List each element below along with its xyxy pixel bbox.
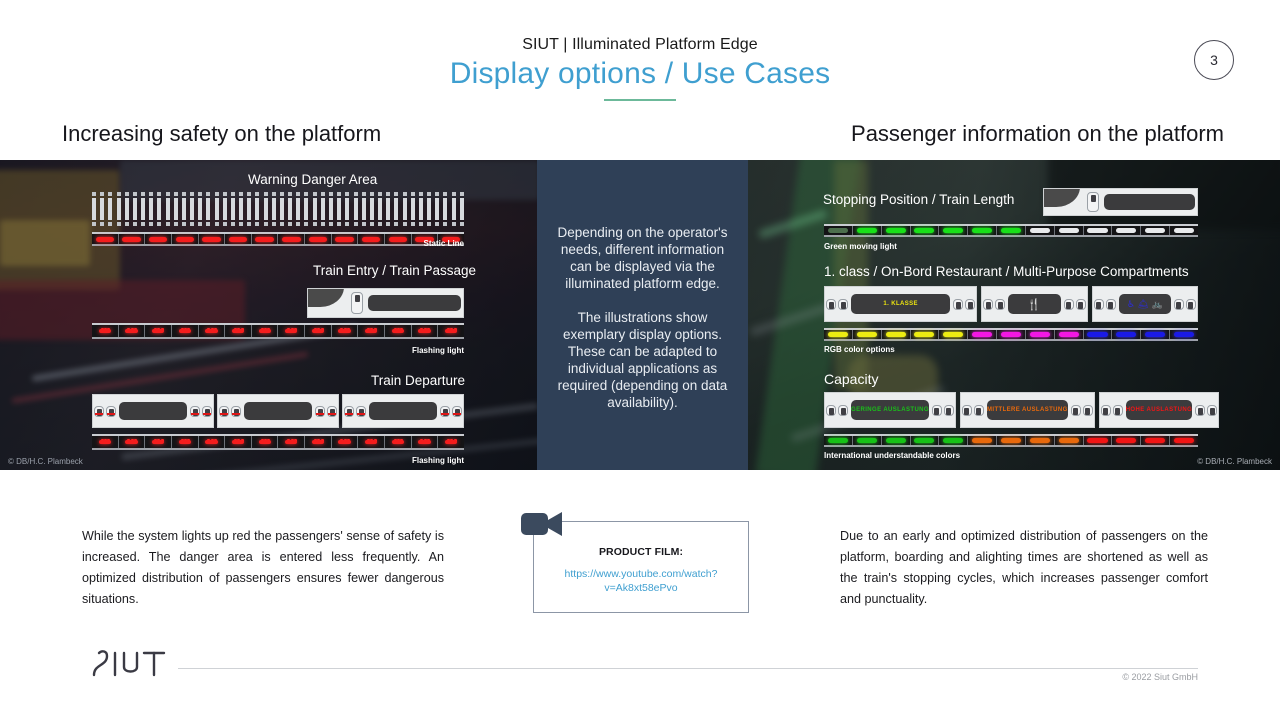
- right-block-title-stopping: Stopping Position / Train Length: [823, 192, 1014, 207]
- hatch-tick: [345, 192, 349, 196]
- light-cell: [824, 330, 853, 339]
- hatch-tick: [247, 222, 251, 226]
- illustration-band: Warning Danger Area Static Line Train En…: [0, 160, 1280, 470]
- light-cell: [438, 325, 464, 337]
- product-film-label: PRODUCT FILM:: [534, 546, 748, 558]
- hatch-tick: [296, 192, 300, 196]
- train-door: [202, 406, 212, 417]
- hatch-tick: [460, 222, 464, 226]
- hatch-tick: [362, 222, 366, 226]
- hatch-tick: [296, 222, 300, 226]
- train-graphic-departure: [92, 394, 464, 428]
- hatch-tick: [370, 222, 374, 226]
- hatch-tick: [313, 192, 317, 196]
- light-cell: [853, 226, 882, 235]
- light-cell: [968, 226, 997, 235]
- hatch-tick: [125, 198, 129, 220]
- light-cell: [305, 436, 332, 448]
- train-door-pair: [952, 299, 976, 310]
- train-graphic-entry: [307, 288, 464, 318]
- hatch-tick: [321, 198, 325, 220]
- train-window: GERINGE AUSLASTUNG: [851, 400, 929, 420]
- train-door-pair: [931, 405, 955, 416]
- hatch-tick: [231, 222, 235, 226]
- light-cell: [1084, 330, 1113, 339]
- hatch-tick: [394, 222, 398, 226]
- middle-panel-copy: Depending on the operator's needs, diffe…: [549, 224, 736, 411]
- middle-paragraph-2: The illustrations show exemplary display…: [549, 309, 736, 411]
- light-cell: [1170, 330, 1198, 339]
- hatch-tick: [427, 222, 431, 226]
- left-column-heading: Increasing safety on the platform: [62, 121, 381, 147]
- hatch-tick: [239, 192, 243, 196]
- hatch-tick: [321, 192, 325, 196]
- train-door: [838, 405, 848, 416]
- train-door-pair: [982, 299, 1006, 310]
- train-door-pair: [825, 299, 849, 310]
- light-cell: [225, 325, 252, 337]
- train-door: [1076, 299, 1086, 310]
- hatch-tick: [386, 192, 390, 196]
- hatch-tick: [264, 222, 268, 226]
- hatch-tick: [272, 198, 276, 220]
- hatch-tick: [247, 192, 251, 196]
- hatch-tick: [206, 192, 210, 196]
- hatch-tick: [182, 198, 186, 220]
- hatch-tick: [411, 198, 415, 220]
- hatch-tick: [435, 192, 439, 196]
- light-cell: [332, 436, 359, 448]
- train-door: [190, 406, 200, 417]
- light-cell: [1112, 226, 1141, 235]
- hatch-tick: [329, 198, 333, 220]
- light-cell: [882, 330, 911, 339]
- train-nose-car: [1043, 188, 1198, 216]
- train-door-pair: [1100, 405, 1124, 416]
- hatch-tick: [313, 222, 317, 226]
- train-door: [351, 292, 363, 314]
- light-cell: [145, 436, 172, 448]
- light-cell: [199, 325, 226, 337]
- hatch-tick: [157, 222, 161, 226]
- light-cell: [438, 436, 464, 448]
- train-door-pair: [1173, 299, 1197, 310]
- hatch-tick: [370, 192, 374, 196]
- left-block-caption-entry: Flashing light: [264, 346, 464, 355]
- hatch-tick: [386, 198, 390, 220]
- hatch-tick: [460, 198, 464, 220]
- light-cell: [412, 436, 439, 448]
- light-cell: [119, 234, 146, 244]
- light-cell: [119, 436, 146, 448]
- hatch-tick: [288, 192, 292, 196]
- hatch-tick: [362, 198, 366, 220]
- hatch-tick: [403, 192, 407, 196]
- hatch-tick: [443, 222, 447, 226]
- train-door-pair: [314, 406, 338, 417]
- right-body-text: Due to an early and optimized distributi…: [840, 526, 1208, 610]
- light-cell: [358, 436, 385, 448]
- hatch-tick: [280, 192, 284, 196]
- light-cell: [92, 234, 119, 244]
- hatch-tick: [174, 198, 178, 220]
- train-door-pair: [961, 405, 985, 416]
- train-door: [315, 406, 325, 417]
- train-car: GERINGE AUSLASTUNG: [824, 392, 956, 428]
- left-block-caption-departure: Flashing light: [264, 456, 464, 465]
- hatch-tick: [141, 192, 145, 196]
- train-car: HOHE AUSLASTUNG: [1099, 392, 1219, 428]
- hatch-tick: [313, 198, 317, 220]
- train-door: [1083, 405, 1093, 416]
- hatch-tick: [108, 192, 112, 196]
- hatch-tick: [149, 222, 153, 226]
- edge-light-strip-rgb: [824, 328, 1198, 341]
- train-car: MITTLERE AUSLASTUNG: [960, 392, 1095, 428]
- train-window: [1104, 194, 1195, 209]
- hatch-tick: [419, 192, 423, 196]
- light-cell: [1112, 330, 1141, 339]
- hatch-tick: [452, 192, 456, 196]
- siut-logo: [88, 648, 168, 680]
- hatch-tick: [174, 222, 178, 226]
- hatch-tick: [378, 192, 382, 196]
- hatch-tick: [272, 192, 276, 196]
- train-window-text: GERINGE AUSLASTUNG: [851, 407, 929, 413]
- train-door: [1094, 299, 1104, 310]
- train-door: [1064, 299, 1074, 310]
- train-window: [368, 295, 461, 311]
- light-cell: [824, 436, 853, 445]
- light-cell: [1026, 436, 1055, 445]
- left-block-title-entry: Train Entry / Train Passage: [313, 263, 476, 278]
- footer-divider: [178, 668, 1198, 669]
- hatch-tick: [198, 198, 202, 220]
- train-window: ♿ 🛎 🚲: [1119, 294, 1171, 314]
- right-block-caption-classes: RGB color options: [824, 345, 895, 354]
- hatch-tick: [296, 198, 300, 220]
- light-cell: [968, 436, 997, 445]
- train-window-text: 1. KLASSE: [883, 301, 918, 307]
- light-cell: [278, 436, 305, 448]
- train-door: [995, 299, 1005, 310]
- hatch-tick: [354, 198, 358, 220]
- right-illustration-panel: Stopping Position / Train Length Green m…: [748, 160, 1280, 470]
- light-cell: [853, 436, 882, 445]
- hatch-tick: [141, 222, 145, 226]
- train-door: [932, 405, 942, 416]
- train-door: [94, 406, 104, 417]
- train-door: [974, 405, 984, 416]
- hatch-tick: [321, 222, 325, 226]
- light-cell: [358, 325, 385, 337]
- hatch-tick: [125, 222, 129, 226]
- hatch-tick: [435, 222, 439, 226]
- hatch-tick: [255, 192, 259, 196]
- hatch-tick: [190, 198, 194, 220]
- danger-zone-hatch-bars: [92, 198, 464, 220]
- hatch-tick: [231, 192, 235, 196]
- middle-paragraph-1: Depending on the operator's needs, diffe…: [549, 224, 736, 292]
- train-door: [1101, 405, 1111, 416]
- light-cell: [172, 436, 199, 448]
- slide-eyebrow: SIUT | Illuminated Platform Edge: [0, 36, 1280, 54]
- train-door: [838, 299, 848, 310]
- train-window: 🍴: [1008, 294, 1060, 314]
- hatch-tick: [419, 222, 423, 226]
- hatch-tick: [354, 192, 358, 196]
- train-door: [344, 406, 354, 417]
- hatch-tick: [239, 198, 243, 220]
- light-cell: [172, 325, 199, 337]
- hatch-tick: [255, 222, 259, 226]
- title-underline-rule: [604, 99, 676, 101]
- train-door: [440, 406, 450, 417]
- hatch-tick: [386, 222, 390, 226]
- hatch-tick: [133, 192, 137, 196]
- hatch-tick: [288, 198, 292, 220]
- light-cell: [278, 325, 305, 337]
- train-door: [1207, 405, 1217, 416]
- light-cell: [385, 325, 412, 337]
- light-cell: [1055, 436, 1084, 445]
- train-door: [1186, 299, 1196, 310]
- light-cell: [997, 226, 1026, 235]
- hatch-tick: [215, 192, 219, 196]
- hatch-tick: [394, 198, 398, 220]
- hatch-tick: [272, 222, 276, 226]
- hatch-tick: [166, 192, 170, 196]
- left-photo-credit: © DB/H.C. Plambeck: [8, 457, 83, 466]
- footer-copyright: © 2022 Siut GmbH: [1122, 672, 1198, 682]
- light-cell: [385, 436, 412, 448]
- light-cell: [145, 325, 172, 337]
- hatch-tick: [92, 198, 96, 220]
- train-door: [219, 406, 229, 417]
- light-cell: [412, 325, 439, 337]
- danger-zone-hatch-top: [92, 192, 464, 196]
- light-cell: [968, 330, 997, 339]
- left-illustration-panel: Warning Danger Area Static Line Train En…: [0, 160, 537, 470]
- light-cell: [1170, 226, 1198, 235]
- hatch-tick: [329, 222, 333, 226]
- train-car: 🍴: [981, 286, 1087, 322]
- train-door: [452, 406, 462, 417]
- edge-light-strip-departure: [92, 434, 464, 450]
- hatch-tick: [427, 192, 431, 196]
- hatch-tick: [182, 222, 186, 226]
- train-window-text: MITTLERE AUSLASTUNG: [987, 407, 1068, 413]
- hatch-tick: [231, 198, 235, 220]
- hatch-tick: [378, 198, 382, 220]
- train-door: [1106, 299, 1116, 310]
- train-door-pair: [1070, 405, 1094, 416]
- light-cell: [939, 436, 968, 445]
- light-cell: [1026, 330, 1055, 339]
- light-cell: [911, 226, 940, 235]
- train-car: [217, 394, 339, 428]
- train-cars-classes: 1. KLASSE🍴♿ 🛎 🚲: [824, 286, 1198, 322]
- train-door-pair: [1063, 299, 1087, 310]
- train-car: [342, 394, 464, 428]
- hatch-tick: [92, 222, 96, 226]
- light-cell: [824, 226, 853, 235]
- light-cell: [119, 325, 146, 337]
- hatch-tick: [354, 222, 358, 226]
- train-door-pair: [1093, 299, 1117, 310]
- light-cell: [1141, 330, 1170, 339]
- hatch-tick: [378, 222, 382, 226]
- page-title: Display options / Use Cases: [0, 57, 1280, 91]
- hatch-tick: [117, 192, 121, 196]
- train-door-pair: [218, 406, 242, 417]
- train-door: [1087, 192, 1099, 213]
- train-door-pair: [343, 406, 367, 417]
- light-cell: [332, 325, 359, 337]
- hatch-tick: [166, 198, 170, 220]
- train-door: [826, 299, 836, 310]
- train-car: [92, 394, 214, 428]
- hatch-tick: [149, 192, 153, 196]
- train-door: [965, 299, 975, 310]
- train-door: [1113, 405, 1123, 416]
- train-window: [244, 402, 312, 421]
- train-window: 1. KLASSE: [851, 294, 950, 314]
- train-door-pair: [93, 406, 117, 417]
- train-nose-car: [307, 288, 464, 318]
- hatch-tick: [157, 198, 161, 220]
- hatch-tick: [223, 192, 227, 196]
- hatch-tick: [182, 192, 186, 196]
- right-block-title-capacity: Capacity: [824, 371, 878, 387]
- hatch-tick: [452, 198, 456, 220]
- hatch-tick: [174, 192, 178, 196]
- train-window: [369, 402, 437, 421]
- edge-light-strip-capacity: [824, 434, 1198, 447]
- light-cell: [92, 436, 119, 448]
- hatch-tick: [133, 198, 137, 220]
- train-door: [106, 406, 116, 417]
- train-window-text: HOHE AUSLASTUNG: [1126, 407, 1192, 413]
- hatch-tick: [435, 198, 439, 220]
- right-block-title-classes: 1. class / On-Bord Restaurant / Multi-Pu…: [824, 264, 1189, 279]
- hatch-tick: [329, 192, 333, 196]
- train-car: ♿ 🛎 🚲: [1092, 286, 1198, 322]
- hatch-tick: [198, 222, 202, 226]
- hatch-tick: [247, 198, 251, 220]
- right-block-caption-capacity: International understandable colors: [824, 451, 960, 460]
- hatch-tick: [337, 198, 341, 220]
- train-door: [953, 299, 963, 310]
- hatch-tick: [206, 222, 210, 226]
- hatch-tick: [149, 198, 153, 220]
- hatch-tick: [239, 222, 243, 226]
- hatch-tick: [345, 198, 349, 220]
- hatch-tick: [452, 222, 456, 226]
- hatch-tick: [427, 198, 431, 220]
- light-cell: [1055, 226, 1084, 235]
- hatch-tick: [108, 222, 112, 226]
- hatch-tick: [100, 222, 104, 226]
- train-door: [826, 405, 836, 416]
- train-door: [356, 406, 366, 417]
- hatch-tick: [394, 192, 398, 196]
- hatch-tick: [304, 198, 308, 220]
- light-cell: [252, 436, 279, 448]
- edge-light-strip-green-moving: [824, 224, 1198, 237]
- danger-zone-hatch-bottom: [92, 222, 464, 226]
- train-window: HOHE AUSLASTUNG: [1126, 400, 1192, 420]
- hatch-tick: [117, 222, 121, 226]
- light-cell: [1084, 226, 1113, 235]
- light-cell: [911, 436, 940, 445]
- hatch-tick: [190, 192, 194, 196]
- hatch-tick: [100, 192, 104, 196]
- light-cell: [1084, 436, 1113, 445]
- hatch-tick: [198, 192, 202, 196]
- accessibility-icons: ♿ 🛎 🚲: [1127, 299, 1163, 310]
- hatch-tick: [215, 222, 219, 226]
- light-cell: [997, 330, 1026, 339]
- slide-header: SIUT | Illuminated Platform Edge Display…: [0, 0, 1280, 110]
- hatch-tick: [223, 198, 227, 220]
- light-cell: [1141, 226, 1170, 235]
- light-cell: [252, 325, 279, 337]
- light-cell: [1112, 436, 1141, 445]
- hatch-tick: [92, 192, 96, 196]
- hatch-tick: [337, 222, 341, 226]
- hatch-tick: [288, 222, 292, 226]
- light-cell: [939, 330, 968, 339]
- hatch-tick: [255, 198, 259, 220]
- product-film-link[interactable]: https://www.youtube.com/watch?v=Ak8xt58e…: [562, 568, 720, 595]
- hatch-tick: [100, 198, 104, 220]
- hatch-tick: [108, 198, 112, 220]
- hatch-tick: [141, 198, 145, 220]
- hatch-tick: [280, 222, 284, 226]
- hatch-tick: [411, 192, 415, 196]
- light-cell: [305, 325, 332, 337]
- train-graphic-stopping: [1043, 188, 1198, 216]
- hatch-tick: [117, 198, 121, 220]
- train-door: [327, 406, 337, 417]
- hatch-tick: [264, 198, 268, 220]
- light-cell: [1026, 226, 1055, 235]
- light-cell: [199, 234, 226, 244]
- hatch-tick: [215, 198, 219, 220]
- light-cell: [1055, 330, 1084, 339]
- hatch-tick: [264, 192, 268, 196]
- light-cell: [225, 436, 252, 448]
- train-door: [944, 405, 954, 416]
- right-photo-credit: © DB/H.C. Plambeck: [1197, 457, 1272, 466]
- product-film-box[interactable]: PRODUCT FILM: https://www.youtube.com/wa…: [533, 521, 749, 613]
- page-number-badge: 3: [1194, 40, 1234, 80]
- train-door-pair: [825, 405, 849, 416]
- train-door: [1195, 405, 1205, 416]
- hatch-tick: [345, 222, 349, 226]
- light-cell: [225, 234, 252, 244]
- hatch-tick: [411, 222, 415, 226]
- train-door-pair: [189, 406, 213, 417]
- light-cell: [92, 325, 119, 337]
- hatch-tick: [362, 192, 366, 196]
- train-window: [119, 402, 187, 421]
- hatch-tick: [125, 192, 129, 196]
- right-column-heading: Passenger information on the platform: [851, 121, 1224, 147]
- light-cell: [882, 436, 911, 445]
- hatch-tick: [403, 222, 407, 226]
